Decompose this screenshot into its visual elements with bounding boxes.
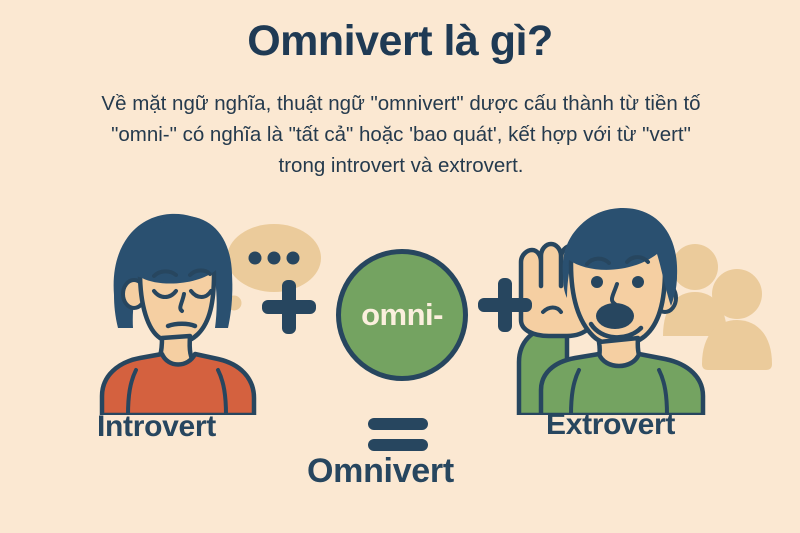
introvert-shirt <box>102 354 254 415</box>
plus-bar-vertical <box>498 278 512 332</box>
equals-bar-top <box>368 418 428 430</box>
plus-operator-1 <box>262 280 316 334</box>
label-omnivert: Omnivert <box>307 452 454 491</box>
plus-operator-2 <box>478 278 532 332</box>
extrovert-figure <box>505 202 775 415</box>
infographic-canvas: Omnivert là gì? Về mặt ngữ nghĩa, thuật … <box>0 0 800 533</box>
equals-operator <box>368 418 428 452</box>
omni-prefix-circle: omni- <box>336 249 468 381</box>
body-paragraph: Về mặt ngữ nghĩa, thuật ngữ "omnivert" d… <box>95 88 707 181</box>
equals-bar-bottom <box>368 439 428 451</box>
extrovert-eye-right <box>632 276 644 288</box>
label-extrovert: Extrovert <box>546 408 675 442</box>
introvert-mouth <box>168 324 195 326</box>
omni-circle-label: omni- <box>361 297 443 333</box>
extrovert-mouth <box>596 303 634 329</box>
people-group-icon <box>663 244 772 370</box>
plus-bar-vertical <box>282 280 296 334</box>
extrovert-eye-left <box>591 276 603 288</box>
label-introvert: Introvert <box>97 410 216 444</box>
page-title: Omnivert là gì? <box>0 18 800 65</box>
